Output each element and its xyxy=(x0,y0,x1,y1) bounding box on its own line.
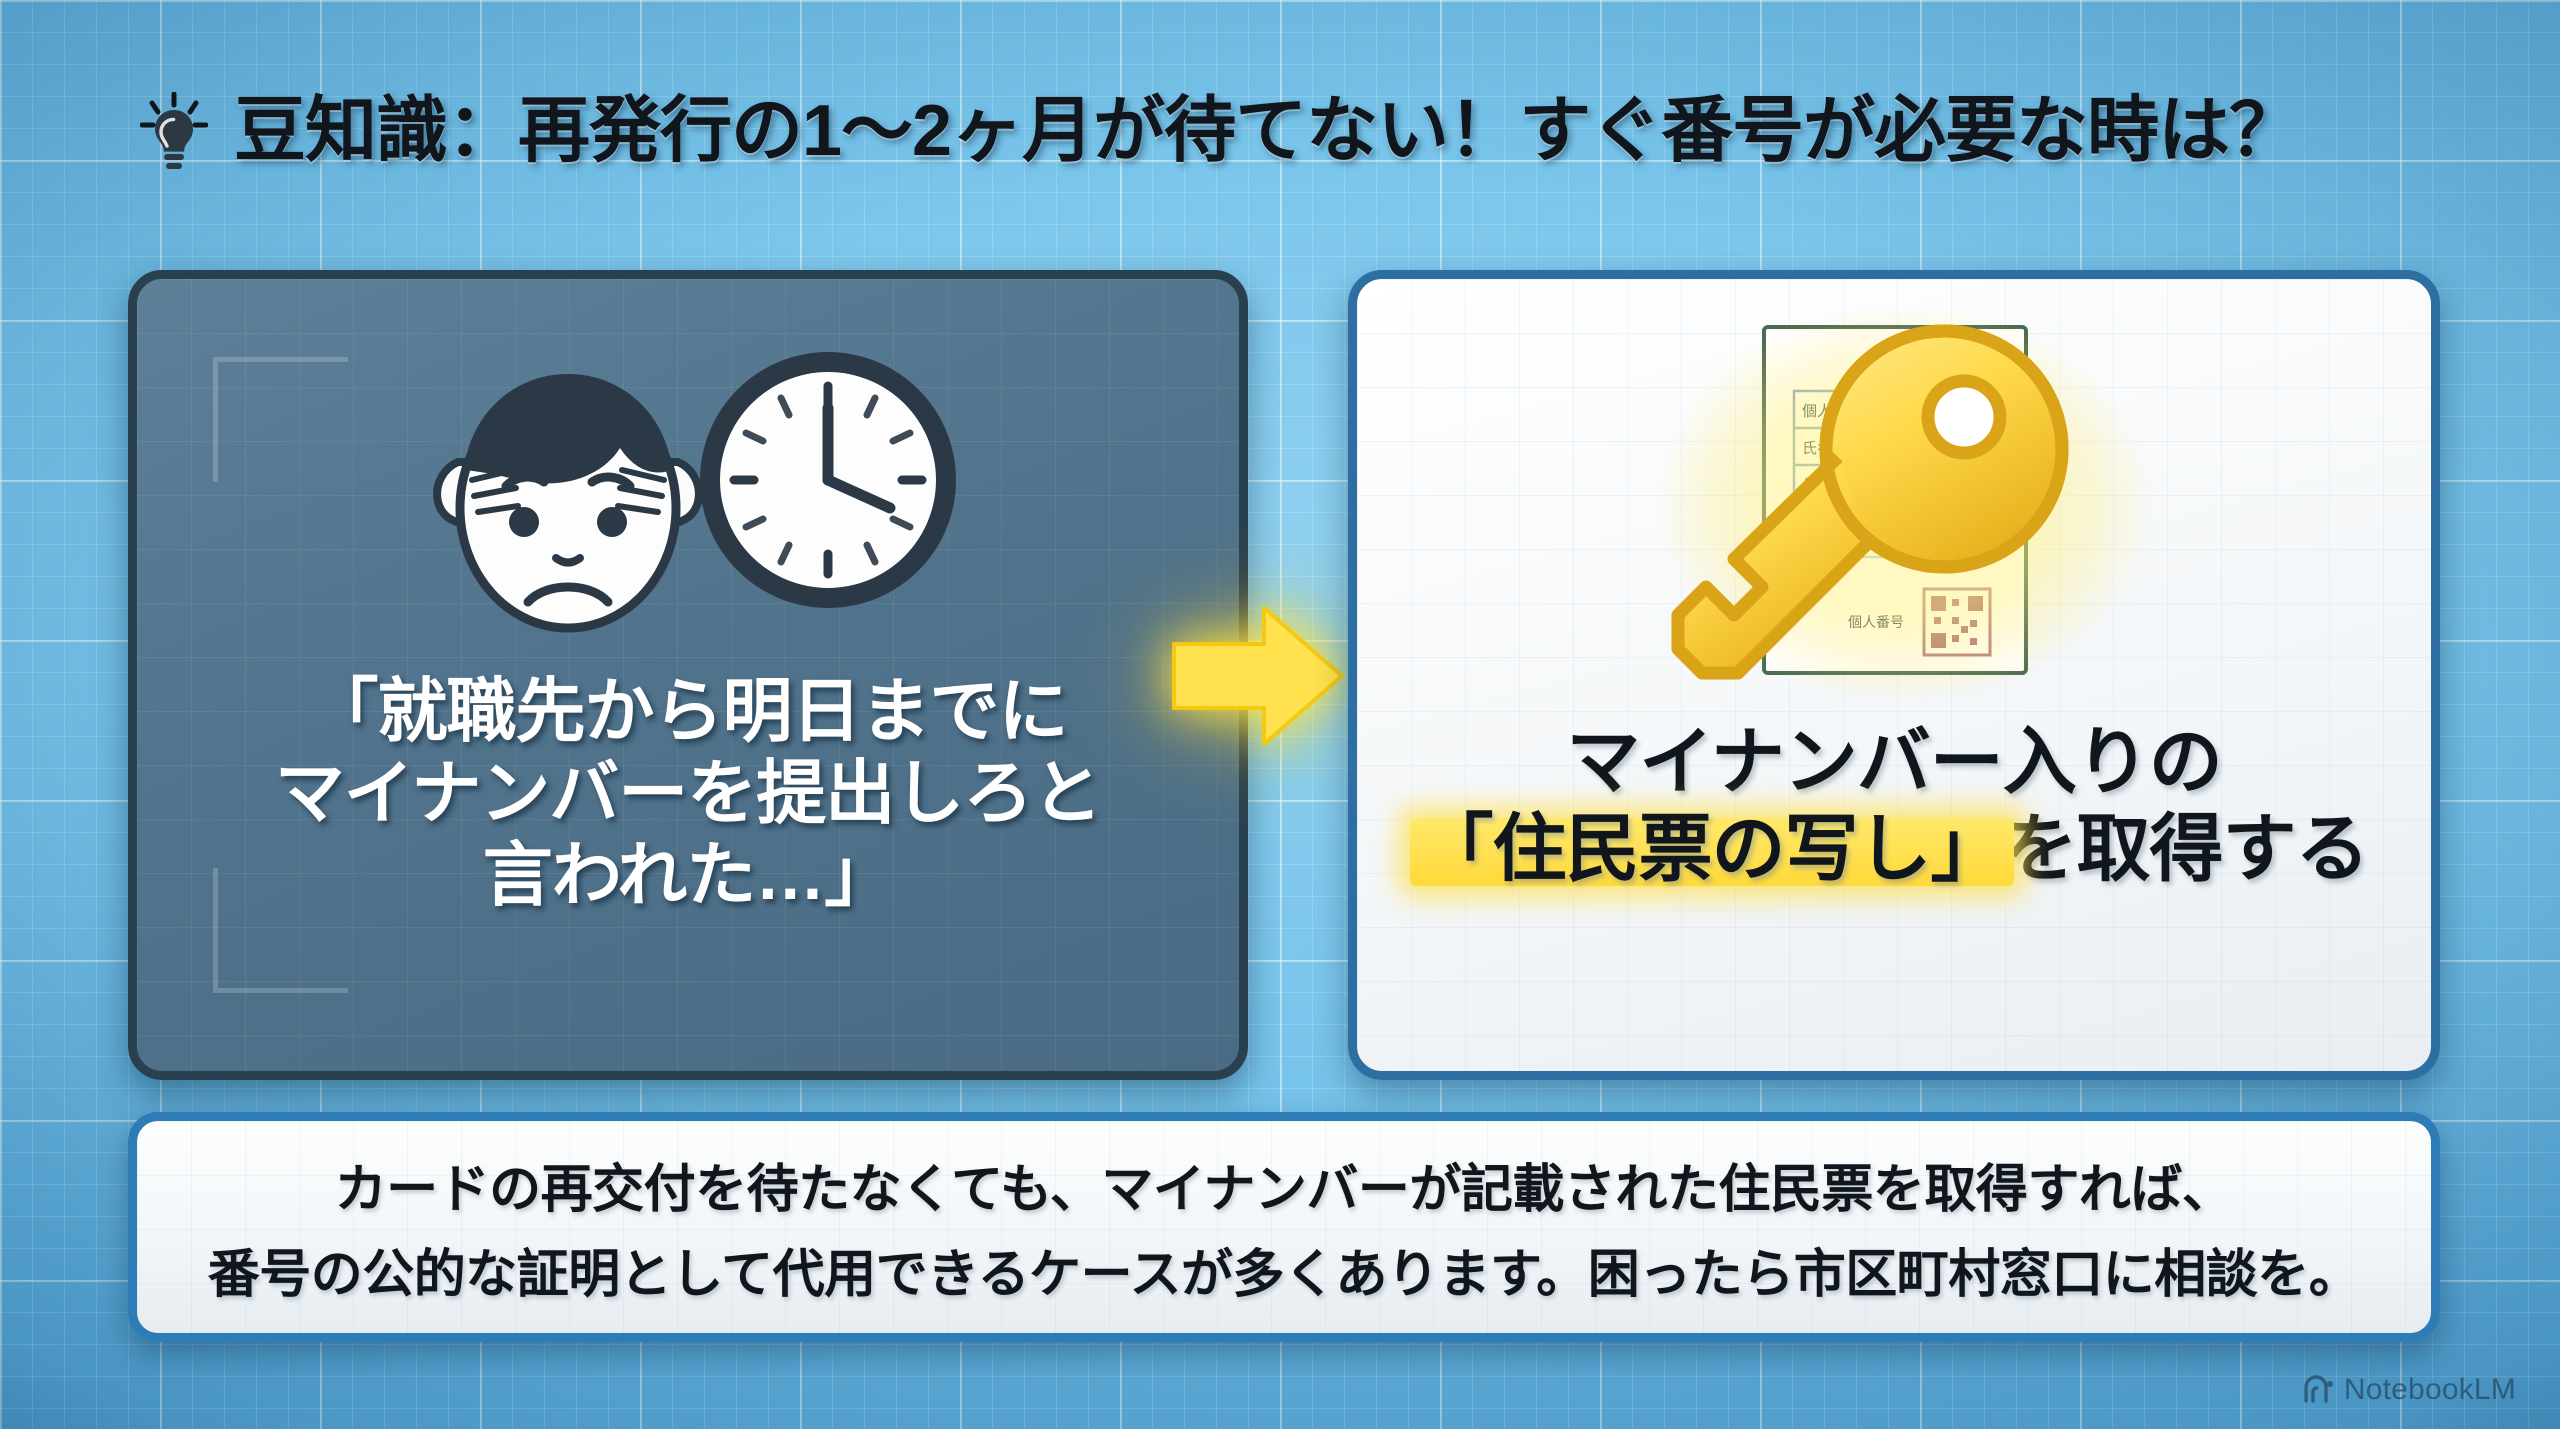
solution-panel: 住民票 個人 氏名 住所 xyxy=(1348,270,2440,1080)
solution-text: マイナンバー入りの 「住民票の写し」を取得する xyxy=(1357,719,2431,892)
solution-illustration: 住民票 個人 氏名 住所 xyxy=(1357,299,2431,699)
problem-quote: 「就職先から明日までに マイナンバーを提出しろと 言われた…」 xyxy=(137,671,1239,917)
highlight-text: 「住民票の写し」 xyxy=(1420,807,2004,890)
problem-panel: 「就職先から明日までに マイナンバーを提出しろと 言われた…」 xyxy=(128,270,1248,1080)
problem-illustration xyxy=(137,325,1239,655)
summary-line-2: 番号の公的な証明として代用できるケースが多くあります。困ったら市区町村窓口に相談… xyxy=(208,1232,2361,1307)
highlight-phrase: 「住民票の写し」 xyxy=(1420,806,2004,893)
worried-face-icon xyxy=(437,374,699,628)
problem-quote-line-2: マイナンバーを提出しろと xyxy=(137,753,1239,835)
page-title: 豆知識：再発行の1〜2ヶ月が待てない！すぐ番号が必要な時は？ xyxy=(234,95,2300,167)
solution-line-2-tail: を取得する xyxy=(2004,807,2369,890)
residence-certificate-with-key-icon: 住民票 個人 氏名 住所 xyxy=(1634,299,2154,699)
problem-quote-line-3: 言われた…」 xyxy=(137,835,1239,917)
header: 豆知識：再発行の1〜2ヶ月が待てない！すぐ番号が必要な時は？ xyxy=(140,92,2300,170)
problem-quote-line-1: 「就職先から明日までに xyxy=(137,671,1239,753)
watermark-label: NotebookLM xyxy=(2344,1373,2516,1407)
worried-person-with-clock-icon xyxy=(378,330,998,650)
summary-card: カードの再交付を待たなくても、マイナンバーが記載された住民票を取得すれば、 番号… xyxy=(128,1112,2440,1342)
infographic-slide: 豆知識：再発行の1〜2ヶ月が待てない！すぐ番号が必要な時は？ xyxy=(0,0,2560,1429)
solution-line-1: マイナンバー入りの xyxy=(1357,719,2431,806)
solution-line-2: 「住民票の写し」を取得する xyxy=(1357,806,2431,893)
right-arrow-icon xyxy=(1168,596,1348,756)
watermark: NotebookLM xyxy=(2302,1373,2516,1407)
summary-line-1: カードの再交付を待たなくても、マイナンバーが記載された住民票を取得すれば、 xyxy=(335,1147,2234,1222)
notebooklm-icon xyxy=(2302,1375,2334,1405)
lightbulb-icon xyxy=(140,92,208,170)
clock-icon xyxy=(700,352,956,608)
